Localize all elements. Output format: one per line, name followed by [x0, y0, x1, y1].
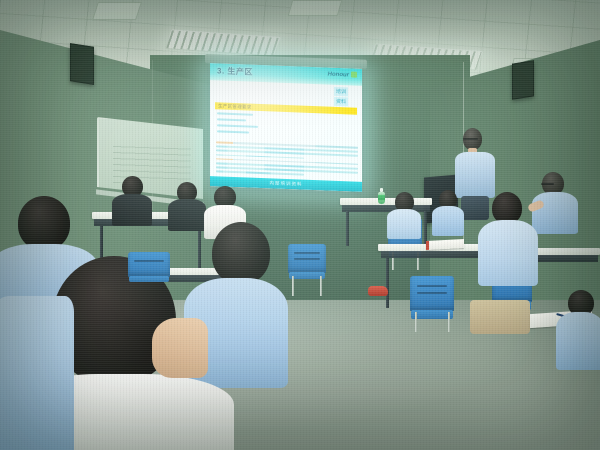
- attendee-head: [212, 222, 270, 284]
- chair-seat: [129, 276, 168, 282]
- chair: [128, 252, 170, 292]
- presenter-glasses-icon: [463, 138, 478, 140]
- slide-logo-text: Honour: [328, 72, 349, 79]
- attendee-far-right: [532, 172, 578, 234]
- chair-slot: [294, 258, 320, 260]
- wall-speaker-right: [512, 60, 534, 99]
- chair-slot: [294, 252, 320, 254]
- bottle-cap: [380, 188, 384, 192]
- chair-back: [410, 276, 454, 311]
- red-shoe: [368, 286, 388, 296]
- slide: 3. 生产区 Honour 培训 资料 生产区管理要求: [210, 63, 362, 192]
- ceiling-vent-1: [92, 2, 142, 20]
- wall-speaker-left: [70, 43, 94, 85]
- slide-footer-text: 内部培训资料: [270, 180, 303, 187]
- chair-leg: [292, 276, 294, 296]
- slide-bullet-list: [217, 112, 337, 141]
- attendee-torso: [0, 296, 74, 450]
- water-bottle-mid: [378, 188, 385, 204]
- slide-subtag-1: 培训: [334, 87, 348, 97]
- slide-title: 3. 生产区: [217, 65, 253, 77]
- slide-bullet: [217, 130, 249, 133]
- attendee-front-center-hand: [152, 318, 208, 378]
- slide-logo: Honour: [328, 71, 357, 79]
- chair: [288, 244, 326, 290]
- attendee-right-front-legs: [470, 300, 530, 334]
- attendee-head: [18, 196, 70, 250]
- attendee-glasses-icon: [541, 183, 554, 185]
- attendee-torso: [432, 206, 464, 236]
- slide-subtag-2: 资料: [334, 97, 348, 107]
- slide-subtags: 培训 资料: [334, 87, 348, 108]
- attendee-torso: [387, 209, 421, 239]
- attendee-back-right: [432, 190, 464, 236]
- classroom-photo: 3. 生产区 Honour 培训 资料 生产区管理要求: [0, 0, 600, 450]
- attendee-right-back: [387, 192, 421, 238]
- slide-highlight-text: 生产区管理要求: [218, 103, 252, 110]
- chair-leg: [448, 312, 450, 332]
- attendee-right-front: [478, 192, 538, 302]
- attendee-torso: [532, 192, 578, 234]
- bottle-label: [378, 195, 385, 200]
- notebook-spine: [426, 241, 429, 250]
- attendee-midleft-dark: [112, 176, 152, 224]
- chair-slot: [134, 260, 164, 262]
- projection-screen: 3. 生产区 Honour 培训 资料 生产区管理要求: [210, 63, 362, 192]
- chair-leg: [415, 312, 417, 332]
- chair-slot: [417, 285, 447, 287]
- slide-bullet: [217, 124, 258, 128]
- slide-bullet: [217, 118, 246, 121]
- attendee-torso: [556, 312, 600, 370]
- chair-leg: [320, 276, 322, 296]
- chair-slot: [417, 292, 447, 294]
- attendee-left-edge: [0, 296, 74, 450]
- desk-leg: [386, 258, 389, 308]
- logo-square-icon: [351, 71, 357, 77]
- slide-body-line: [216, 171, 304, 176]
- attendee-torso: [112, 194, 152, 226]
- chair: [410, 276, 454, 332]
- slide-bullet: [217, 112, 253, 115]
- slide-body-text: [216, 141, 358, 180]
- chair-seat: [411, 310, 452, 319]
- chair-back: [128, 252, 170, 277]
- desk-leg: [346, 211, 349, 246]
- attendee-far-right-lower: [556, 290, 600, 370]
- attendee-torso: [478, 220, 538, 286]
- chair-back: [288, 244, 326, 273]
